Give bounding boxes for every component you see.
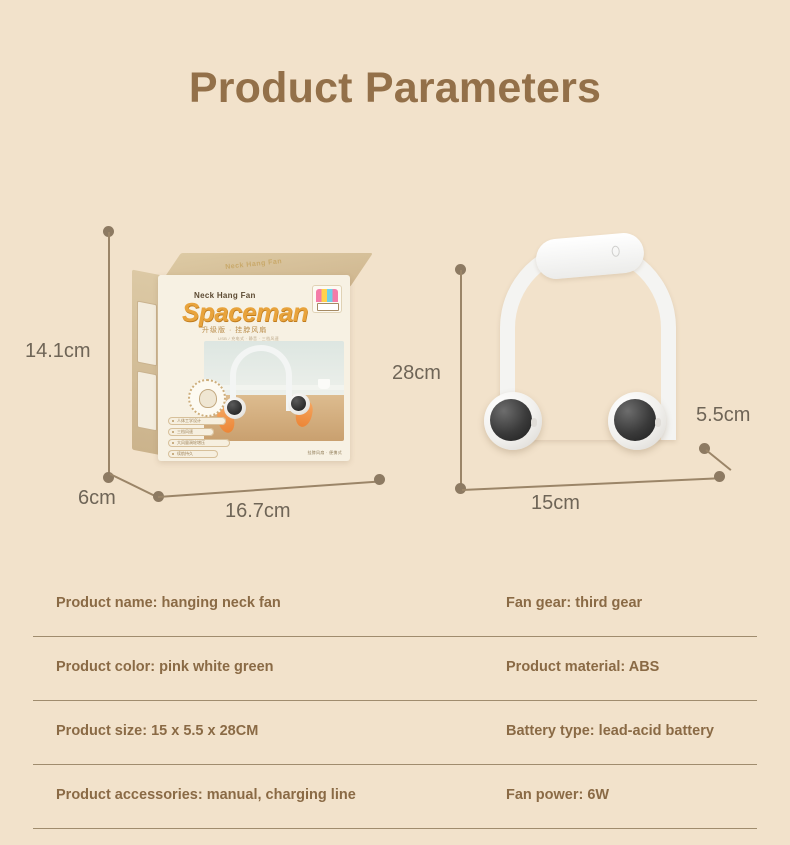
fan-head-left — [484, 392, 542, 450]
param-product-accessories: Product accessories: manual, charging li… — [56, 787, 356, 803]
photo-fan-head-right — [288, 393, 310, 415]
package-brand-name: Spaceman — [182, 297, 308, 328]
dim-label-box-width: 16.7cm — [225, 500, 291, 523]
package-feature-badge: 续航持久 — [168, 450, 218, 458]
fan-indicator-icon — [611, 245, 620, 257]
dim-label-box-depth: 6cm — [78, 487, 116, 510]
photo-cup — [318, 379, 330, 389]
fan-head-right — [608, 392, 666, 450]
parameters-table: Product name: hanging neck fan Fan gear:… — [33, 573, 757, 829]
table-row: Product name: hanging neck fan Fan gear:… — [33, 573, 757, 637]
package-brand-chinese: 升级版 · 挂脖风扇 — [202, 325, 267, 335]
photo-fan-head-left — [224, 397, 246, 419]
package-box: Neck Hang Fan Neck Hang Fan Spaceman 升级版… — [132, 253, 354, 463]
fan-button-right — [655, 418, 661, 427]
fan-grille-left-icon — [490, 399, 532, 441]
package-emblem-icon — [188, 379, 226, 417]
page-title: Product Parameters — [0, 64, 790, 113]
fan-button-left — [531, 418, 537, 427]
package-foot-text: 挂脖风扇 · 便携式 — [307, 450, 342, 456]
dim-label-fan-depth: 5.5cm — [696, 404, 750, 427]
product-figures: 14.1cm Neck Hang Fan Neck Hang Fan Space… — [0, 200, 790, 550]
dim-label-box-height: 14.1cm — [25, 340, 91, 363]
package-side-panel — [132, 270, 160, 455]
dim-dot-fan-width-right — [714, 471, 725, 482]
param-product-name: Product name: hanging neck fan — [56, 595, 281, 611]
package-feature-badge: 三档风速 — [168, 428, 214, 436]
package-feature-badge: 人体工学设计 — [168, 417, 226, 425]
dim-dot-box-bottom-right — [374, 474, 385, 485]
package-logo-badge — [312, 285, 342, 313]
param-product-size: Product size: 15 x 5.5 x 28CM — [56, 723, 258, 739]
table-row: Product color: pink white green Product … — [33, 637, 757, 701]
param-fan-gear: Fan gear: third gear — [506, 595, 642, 611]
dim-line-box-width — [158, 481, 380, 498]
param-product-color: Product color: pink white green — [56, 659, 274, 675]
param-fan-power: Fan power: 6W — [506, 787, 609, 803]
neck-fan-product — [478, 240, 698, 465]
dim-label-fan-height: 28cm — [392, 362, 441, 385]
package-side-art-top — [137, 301, 157, 367]
dim-label-fan-width: 15cm — [531, 492, 580, 515]
logo-eyes-icon — [317, 303, 339, 311]
table-row: Product size: 15 x 5.5 x 28CM Battery ty… — [33, 701, 757, 765]
dim-line-box-height — [108, 232, 110, 477]
package-top-text: Neck Hang Fan — [225, 258, 282, 271]
package-side-art-bottom — [137, 371, 157, 432]
logo-face-icon — [316, 289, 338, 302]
package-front-panel: Neck Hang Fan Spaceman 升级版 · 挂脖风扇 USB / … — [158, 275, 350, 461]
param-battery-type: Battery type: lead-acid battery — [506, 723, 714, 739]
package-feature-badge: 大风量渦轮增压 — [168, 439, 230, 447]
param-product-material: Product material: ABS — [506, 659, 659, 675]
dim-line-fan-depth — [705, 449, 731, 471]
fan-grille-right-icon — [614, 399, 656, 441]
table-row: Product accessories: manual, charging li… — [33, 765, 757, 829]
dim-line-fan-width — [462, 477, 720, 491]
dim-line-fan-height — [460, 270, 462, 488]
dim-line-box-depth — [110, 473, 159, 498]
